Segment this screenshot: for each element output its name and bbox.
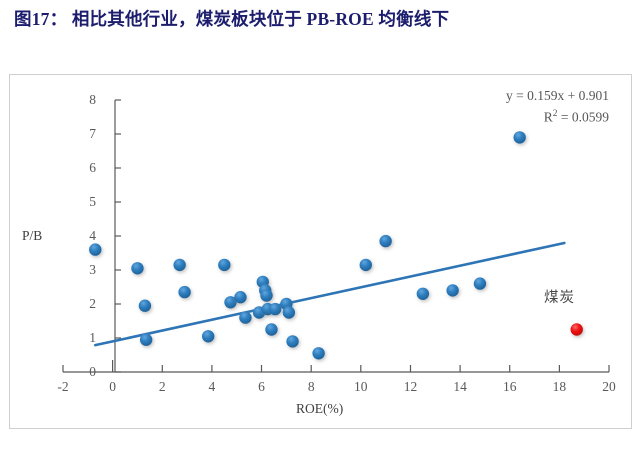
- y-tick-label: 0: [70, 364, 96, 380]
- scatter-point: [89, 243, 101, 255]
- y-tick-label: 8: [70, 92, 96, 108]
- x-axis-title: ROE(%): [296, 401, 343, 417]
- scatter-point: [173, 259, 185, 271]
- x-tick-label: 6: [245, 379, 279, 395]
- x-tick-label: 12: [394, 379, 428, 395]
- scatter-point: [286, 335, 298, 347]
- x-tick-label: 4: [195, 379, 229, 395]
- scatter-point: [446, 284, 458, 296]
- y-tick-label: 4: [70, 228, 96, 244]
- scatter-point: [360, 259, 372, 271]
- x-tick-label: 18: [542, 379, 576, 395]
- x-tick-label: 16: [493, 379, 527, 395]
- r-squared-prefix: R: [544, 110, 553, 125]
- figure-title: 图17： 相比其他行业，煤炭板块位于 PB-ROE 均衡线下: [14, 6, 629, 32]
- regression-equation-annotation: y = 0.159x + 0.901 R2 = 0.0599: [506, 87, 609, 127]
- chart-axes: [63, 100, 609, 372]
- scatter-point: [178, 286, 190, 298]
- scatter-point-highlight: [571, 323, 583, 335]
- y-tick-label: 5: [70, 194, 96, 210]
- y-tick-label: 1: [70, 330, 96, 346]
- x-tick-label: 0: [96, 379, 130, 395]
- chart-container: 8 7 6 5 4 3 2 1 0 P/B -2 0 2 4 6 8 10 12…: [9, 74, 632, 429]
- figure-page: 图17： 相比其他行业，煤炭板块位于 PB-ROE 均衡线下: [0, 0, 641, 469]
- x-tick-label: 2: [145, 379, 179, 395]
- scatter-point: [140, 334, 152, 346]
- y-tick-label: 7: [70, 126, 96, 142]
- r-squared-value: = 0.0599: [561, 110, 609, 125]
- r-squared-exponent: 2: [553, 109, 558, 119]
- scatter-point: [417, 288, 429, 300]
- equation-line: y = 0.159x + 0.901: [506, 87, 609, 105]
- scatter-point: [139, 300, 151, 312]
- scatter-point: [269, 303, 281, 315]
- data-points: [89, 131, 583, 359]
- scatter-point: [474, 277, 486, 289]
- scatter-plot-svg: [10, 75, 631, 428]
- trendline-segment: [95, 243, 564, 345]
- trendline: [95, 243, 564, 345]
- scatter-point: [312, 347, 324, 359]
- scatter-point: [218, 259, 230, 271]
- scatter-point: [234, 291, 246, 303]
- y-tick-label: 2: [70, 296, 96, 312]
- y-tick-label: 6: [70, 160, 96, 176]
- x-tick-label: 10: [344, 379, 378, 395]
- x-tick-label: 20: [592, 379, 626, 395]
- scatter-point: [379, 235, 391, 247]
- y-tick-label: 3: [70, 262, 96, 278]
- x-axis-ticks: [63, 360, 609, 372]
- scatter-point: [265, 323, 277, 335]
- x-tick-label: 8: [294, 379, 328, 395]
- scatter-point: [131, 262, 143, 274]
- scatter-point: [260, 289, 272, 301]
- y-axis-title: P/B: [22, 228, 42, 244]
- highlight-series-label: 煤炭: [544, 286, 575, 307]
- r-squared-line: R2 = 0.0599: [506, 105, 609, 127]
- x-tick-label: -2: [46, 379, 80, 395]
- scatter-point: [513, 131, 525, 143]
- scatter-point: [283, 306, 295, 318]
- scatter-point: [239, 311, 251, 323]
- scatter-point: [202, 330, 214, 342]
- y-axis-ticks: [115, 100, 121, 372]
- x-tick-label: 14: [443, 379, 477, 395]
